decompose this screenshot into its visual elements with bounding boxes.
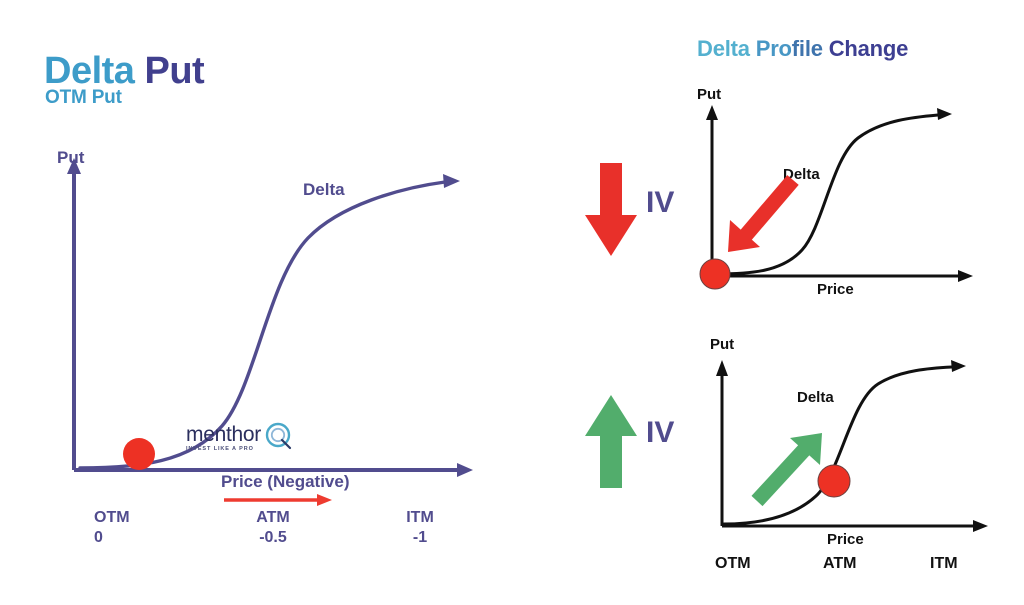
left-chart-marker-dot xyxy=(123,438,155,470)
moneyness-otm-label: OTM xyxy=(94,508,130,528)
panel2-marker-dot xyxy=(818,465,850,497)
panel1-y-axis xyxy=(706,105,718,276)
price-direction-arrow-icon xyxy=(222,492,337,508)
moneyness-itm: ITM -1 xyxy=(390,508,450,548)
page-subtitle: OTM Put xyxy=(45,88,122,107)
moneyness-atm-label: ATM xyxy=(233,508,313,528)
left-chart-y-axis xyxy=(67,158,81,470)
panel1-delta-chart xyxy=(690,100,990,290)
left-chart-x-axis-label: Price (Negative) xyxy=(221,472,350,492)
panel1-marker-dot xyxy=(700,259,730,289)
panel2-y-axis xyxy=(716,360,728,526)
watermark-tagline: INVEST LIKE A PRO xyxy=(186,447,261,453)
right-title-part-1: Delta xyxy=(697,36,756,61)
iv-up-arrow-icon xyxy=(583,393,639,488)
moneyness-itm-label: ITM xyxy=(390,508,450,528)
iv-up-label: IV xyxy=(646,416,674,450)
page-title: Delta Put xyxy=(44,52,204,90)
moneyness-atm: ATM -0.5 xyxy=(233,508,313,548)
iv-down-label: IV xyxy=(646,186,674,220)
panel2-delta-chart xyxy=(700,350,1010,540)
menthorq-watermark: menthor INVEST LIKE A PRO xyxy=(186,424,294,453)
iv-down-arrow-icon xyxy=(583,163,639,258)
panel2-moneyness-itm: ITM xyxy=(930,555,958,573)
page-title-word-put: Put xyxy=(144,50,204,92)
panel2-shift-arrow-icon xyxy=(757,433,822,501)
moneyness-otm-value: 0 xyxy=(94,528,130,548)
panel2-moneyness-atm: ATM xyxy=(823,555,856,573)
moneyness-itm-value: -1 xyxy=(390,528,450,548)
moneyness-atm-value: -0.5 xyxy=(233,528,313,548)
right-title-part-4: Change xyxy=(829,36,908,61)
panel1-shift-arrow-icon xyxy=(728,180,793,252)
panel2-moneyness-otm: OTM xyxy=(715,555,751,573)
page-title-word-delta: Delta xyxy=(44,50,134,92)
moneyness-otm: OTM 0 xyxy=(94,508,130,548)
right-title-part-3: file xyxy=(792,36,829,61)
panel1-delta-curve xyxy=(716,108,952,274)
menthorq-q-icon xyxy=(264,421,294,451)
left-chart-curve-label: Delta xyxy=(303,180,345,200)
right-title-part-2: Pro xyxy=(756,36,792,61)
right-panel-title: Delta Profile Change xyxy=(697,36,908,62)
watermark-wordmark: menthor xyxy=(186,424,261,445)
